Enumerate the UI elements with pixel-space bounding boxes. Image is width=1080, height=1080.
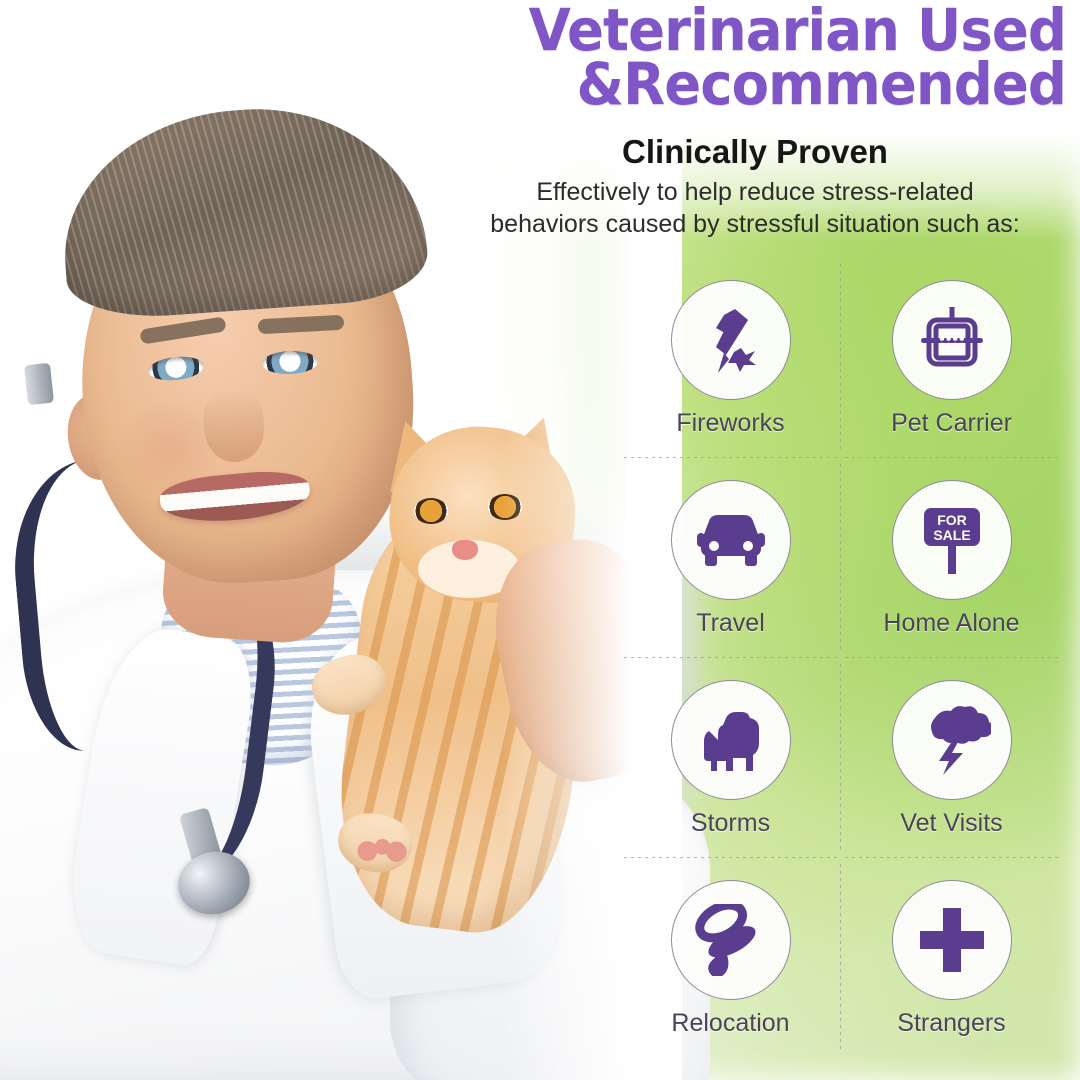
for-sale-sign-icon: FOR SALE bbox=[915, 502, 989, 578]
subheading-title: Clinically Proven bbox=[450, 134, 1060, 170]
kitten-eye-left bbox=[414, 498, 448, 524]
grid-label-relocation: Relocation bbox=[671, 1011, 789, 1036]
grid-label-home-alone: Home Alone bbox=[883, 611, 1019, 636]
subheading-block: Clinically Proven Effectively to help re… bbox=[450, 134, 1060, 240]
stress-situations-grid: Fireworks bbox=[620, 258, 1062, 1058]
firework-rocket-icon bbox=[694, 303, 768, 377]
grid-label-strangers: Strangers bbox=[897, 1011, 1005, 1036]
grid-cell-vet-visits: Vet Visits bbox=[841, 658, 1062, 858]
subheading-copy-line-2: behaviors caused by stressful situation … bbox=[450, 208, 1060, 240]
grid-cell-relocation: Relocation bbox=[620, 858, 841, 1058]
stethoscope-clip bbox=[24, 363, 54, 405]
pet-carrier-icon bbox=[915, 303, 989, 377]
grid-label-fireworks: Fireworks bbox=[676, 411, 784, 436]
medical-cross-icon bbox=[917, 905, 987, 975]
icon-circle-travel bbox=[671, 480, 791, 600]
subheading-copy: Effectively to help reduce stress-relate… bbox=[450, 176, 1060, 240]
car-front-icon bbox=[693, 509, 769, 571]
icon-circle-home-alone: FOR SALE bbox=[892, 480, 1012, 600]
grid-cell-pet-carrier: Pet Carrier bbox=[841, 258, 1062, 458]
hair bbox=[55, 98, 430, 323]
for-sale-text-line-2: SALE bbox=[933, 527, 970, 543]
grid-cell-strangers: Strangers bbox=[841, 858, 1062, 1058]
grid-cell-fireworks: Fireworks bbox=[620, 258, 841, 458]
icon-circle-relocation bbox=[671, 880, 791, 1000]
pacifier-icon bbox=[693, 904, 769, 976]
kitten-nose bbox=[452, 540, 478, 560]
for-sale-text-line-1: FOR bbox=[937, 512, 967, 528]
icon-circle-strangers bbox=[892, 880, 1012, 1000]
grid-cell-travel: Travel bbox=[620, 458, 841, 658]
grid-label-storms: Storms bbox=[691, 811, 770, 836]
grid-label-pet-carrier: Pet Carrier bbox=[891, 411, 1012, 436]
dog-and-cat-icon bbox=[692, 707, 770, 773]
icon-circle-storms bbox=[671, 680, 791, 800]
headline-line-2: &Recommended bbox=[446, 58, 1066, 112]
grid-label-travel: Travel bbox=[696, 611, 765, 636]
grid-cell-storms: Storms bbox=[620, 658, 841, 858]
storm-cloud-lightning-icon bbox=[913, 704, 991, 776]
icon-circle-pet-carrier bbox=[892, 280, 1012, 400]
headline: Veterinarian Used &Recommended bbox=[446, 4, 1066, 112]
grid-label-vet-visits: Vet Visits bbox=[900, 811, 1002, 836]
subheading-copy-line-1: Effectively to help reduce stress-relate… bbox=[450, 176, 1060, 208]
product-marketing-poster: Veterinarian Used &Recommended Clinicall… bbox=[0, 0, 1080, 1080]
icon-circle-fireworks bbox=[671, 280, 791, 400]
grid-cell-home-alone: FOR SALE Home Alone bbox=[841, 458, 1062, 658]
icon-circle-vet-visits bbox=[892, 680, 1012, 800]
kitten-toe-beans bbox=[350, 834, 408, 868]
